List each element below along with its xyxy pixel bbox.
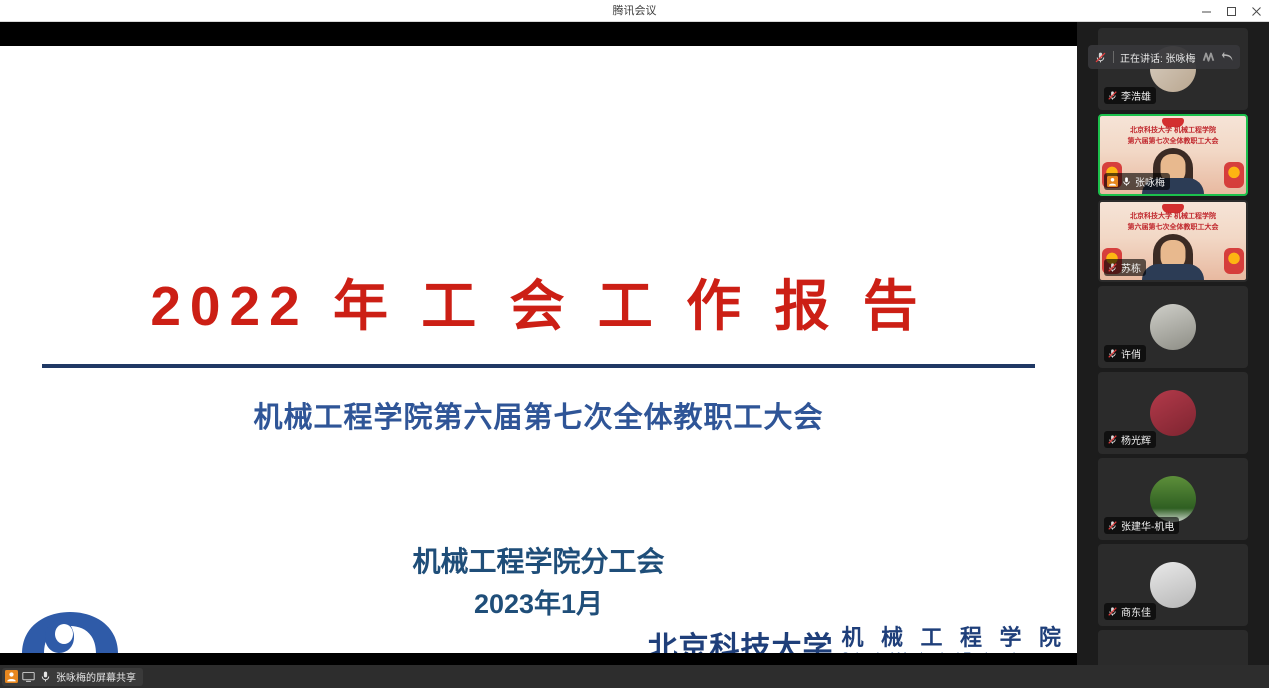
avatar (1150, 476, 1196, 522)
mic-muted-icon (1107, 348, 1118, 359)
host-icon (1107, 176, 1118, 187)
arch-eye-icon (8, 608, 133, 656)
window-titlebar: 腾讯会议 (0, 0, 1269, 22)
window-controls (1194, 0, 1269, 22)
video-backdrop-text: 北京科技大学 机械工程学院第六届第七次全体教职工大会 (1100, 126, 1246, 147)
decor-flower-right-icon (1224, 248, 1244, 274)
person-icon (5, 670, 18, 683)
participant-name: 李浩雄 (1121, 88, 1151, 103)
mic-muted-icon (1107, 262, 1118, 273)
mic-muted-icon (1107, 520, 1118, 531)
decor-flower-right-icon (1224, 162, 1244, 188)
avatar (1150, 390, 1196, 436)
participant-name: 商东佳 (1121, 604, 1151, 619)
active-speaker-label: 正在讲话: 张咏梅 (1120, 50, 1196, 65)
close-button[interactable] (1244, 0, 1269, 22)
participant-namebar: 许俏 (1104, 345, 1146, 362)
audio-wave-icon (1202, 51, 1215, 64)
participant-torso (1142, 264, 1204, 280)
participant-rail[interactable]: 李浩雄北京科技大学 机械工程学院第六届第七次全体教职工大会张咏梅北京科技大学 机… (1077, 22, 1269, 665)
letterbox-top (0, 22, 1077, 46)
brand-school-name-cn: 机 械 工 程 学 院 (841, 626, 1067, 650)
slide-organization: 机械工程学院分工会 (0, 540, 1077, 580)
letterbox-bottom (0, 653, 1077, 665)
presentation-slide: 2022 年 工 会 工 作 报 告 机械工程学院第六届第七次全体教职工大会 机… (0, 46, 1077, 678)
participant-tile[interactable]: 商东佳 (1098, 544, 1248, 626)
window-title: 腾讯会议 (0, 0, 1269, 22)
maximize-icon (1226, 6, 1237, 17)
participant-name: 张建华-机电 (1121, 518, 1174, 533)
mic-muted-icon (1107, 434, 1118, 445)
minimize-button[interactable] (1194, 0, 1219, 22)
mic-muted-icon (1094, 51, 1107, 64)
mic-active-icon (1121, 176, 1132, 187)
slide-title: 2022 年 工 会 工 作 报 告 (0, 261, 1077, 341)
maximize-button[interactable] (1219, 0, 1244, 22)
participant-name: 苏栋 (1121, 260, 1141, 275)
minimize-icon (1201, 6, 1212, 17)
slide-date: 2023年1月 (0, 582, 1077, 621)
participant-tile[interactable]: 北京科技大学 机械工程学院第六届第七次全体教职工大会张咏梅 (1098, 114, 1248, 196)
shared-screen-stage[interactable]: 2022 年 工 会 工 作 报 告 机械工程学院第六届第七次全体教职工大会 机… (0, 22, 1077, 665)
close-icon (1251, 6, 1262, 17)
participant-namebar: 张建华-机电 (1104, 517, 1179, 534)
participant-namebar: 苏栋 (1104, 259, 1146, 276)
mic-muted-icon (1107, 606, 1118, 617)
participant-namebar: 商东佳 (1104, 603, 1156, 620)
participant-tile[interactable]: 杨光辉 (1098, 372, 1248, 454)
taskbar: 张咏梅的屏幕共享 (0, 665, 1269, 688)
participant-tile[interactable]: 北京科技大学 机械工程学院第六届第七次全体教职工大会苏栋 (1098, 200, 1248, 282)
participant-namebar: 张咏梅 (1104, 173, 1170, 190)
participant-tile[interactable]: 李浩雄 (1098, 28, 1248, 110)
slide-divider (42, 364, 1035, 368)
participant-namebar: 李浩雄 (1104, 87, 1156, 104)
screen-share-icon (22, 670, 35, 683)
participant-name: 许俏 (1121, 346, 1141, 361)
avatar (1150, 304, 1196, 350)
participant-tile[interactable]: 张建华-机电 (1098, 458, 1248, 540)
participant-name: 张咏梅 (1135, 174, 1165, 189)
video-backdrop-text: 北京科技大学 机械工程学院第六届第七次全体教职工大会 (1100, 212, 1246, 233)
avatar (1150, 562, 1196, 608)
toast-separator (1113, 51, 1114, 63)
microphone-icon (39, 670, 52, 683)
screen-share-status-chip[interactable]: 张咏梅的屏幕共享 (2, 668, 143, 686)
tencent-meeting-window: 腾讯会议 2022 年 工 会 工 作 报 (0, 0, 1269, 688)
participant-namebar: 杨光辉 (1104, 431, 1156, 448)
return-arrow-icon[interactable] (1221, 51, 1234, 64)
participant-tile[interactable]: 许俏 (1098, 286, 1248, 368)
active-speaker-toast: 正在讲话: 张咏梅 (1088, 45, 1240, 69)
mic-muted-icon (1107, 90, 1118, 101)
screen-share-label: 张咏梅的屏幕共享 (56, 669, 136, 684)
slide-subtitle: 机械工程学院第六届第七次全体教职工大会 (0, 394, 1077, 436)
participant-name: 杨光辉 (1121, 432, 1151, 447)
